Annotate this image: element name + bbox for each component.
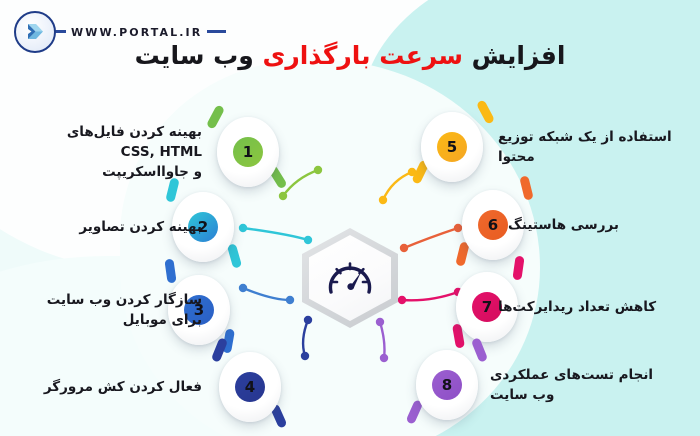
page-title: افزایش سرعت بارگذاری وب سایت bbox=[0, 40, 700, 71]
step-label-2: بهینه کردن تصاویر bbox=[22, 217, 202, 237]
center-hexagon bbox=[302, 228, 398, 328]
chevron-3d-logo-icon bbox=[14, 11, 56, 53]
step-label-6: بررسی هاستینگ bbox=[508, 215, 688, 235]
step-badge-1: 1 bbox=[233, 137, 263, 167]
step-label-1: بهینه کردن فایل‌های CSS, HTML و جاوااسکر… bbox=[22, 122, 202, 183]
step-label-5: استفاده از یک شبکه توزیع محتوا bbox=[498, 127, 688, 168]
step-node-1[interactable]: 1 bbox=[217, 117, 279, 187]
step-badge-6: 6 bbox=[478, 210, 508, 240]
step-label-8: انجام تست‌های عملکردی وب سایت bbox=[490, 365, 688, 406]
brand-site-label: WWW.PORTAL.IR bbox=[66, 26, 207, 39]
step-node-8[interactable]: 8 bbox=[416, 350, 478, 420]
infographic-canvas: WWW.PORTAL.IR افزایش سرعت بارگذاری وب سا… bbox=[0, 0, 700, 436]
title-part-before: افزایش bbox=[463, 41, 566, 70]
title-part-highlight: سرعت بارگذاری bbox=[263, 41, 463, 70]
step-badge-4: 4 bbox=[235, 372, 265, 402]
step-node-5[interactable]: 5 bbox=[421, 112, 483, 182]
step-badge-5: 5 bbox=[437, 132, 467, 162]
step-node-4[interactable]: 4 bbox=[219, 352, 281, 422]
step-badge-8: 8 bbox=[432, 370, 462, 400]
step-label-3: سازگار کردن وب سایت برای موبایل bbox=[14, 290, 202, 331]
step-label-4: فعال کردن کش مرورگر bbox=[22, 377, 202, 397]
step-label-7: کاهش تعداد ریدایرکت‌ها bbox=[498, 297, 688, 317]
speedometer-gauge-icon bbox=[326, 256, 374, 300]
title-part-after: وب سایت bbox=[135, 41, 263, 70]
